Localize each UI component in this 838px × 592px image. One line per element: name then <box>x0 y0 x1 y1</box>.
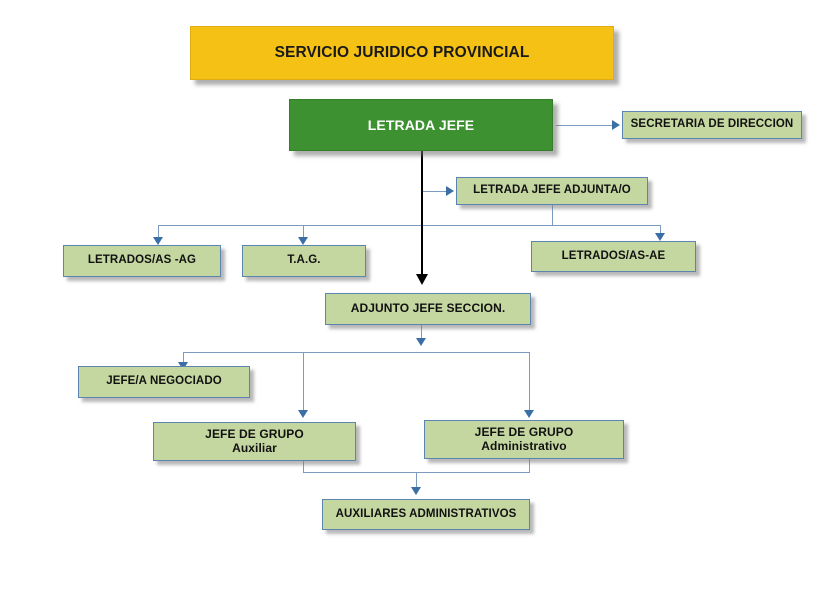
arrow-down-icon-grupo-administrativo <box>524 410 534 418</box>
connector-section-bus <box>183 352 530 353</box>
node-label: ADJUNTO JEFE SECCION. <box>351 302 506 316</box>
node-letrada-jefe[interactable]: LETRADA JEFE <box>289 99 553 151</box>
node-label: LETRADOS/AS -AG <box>88 254 196 267</box>
node-label-line2: Administrativo <box>481 440 566 454</box>
connector-administrativo-down <box>529 459 530 472</box>
node-label-line2: Auxiliar <box>232 442 277 456</box>
node-label: LETRADOS/AS-AE <box>562 250 666 263</box>
node-label: LETRADA JEFE <box>368 117 474 133</box>
node-label: JEFE/A NEGOCIADO <box>106 375 222 388</box>
node-jefe-de-grupo-administrativo[interactable]: JEFE DE GRUPO Administrativo <box>424 420 624 459</box>
arrow-right-icon-deputy <box>446 186 454 196</box>
arrow-down-icon-lawyers-ag <box>153 237 163 245</box>
node-adjunto-jefe-seccion[interactable]: ADJUNTO JEFE SECCION. <box>325 293 531 325</box>
node-jefe-a-negociado[interactable]: JEFE/A NEGOCIADO <box>78 366 250 398</box>
node-auxiliares-administrativos[interactable]: AUXILIARES ADMINISTRATIVOS <box>322 499 530 530</box>
arrow-down-icon-section-head <box>416 274 428 285</box>
node-label: LETRADA JEFE ADJUNTA/O <box>473 184 631 197</box>
node-label-line1: JEFE DE GRUPO <box>475 426 574 440</box>
node-label: SERVICIO JURIDICO PROVINCIAL <box>275 44 530 62</box>
org-chart-canvas: SERVICIO JURIDICO PROVINCIAL LETRADA JEF… <box>0 0 838 592</box>
connector-auxiliar-down <box>303 461 304 472</box>
node-label: SECRETARIA DE DIRECCION <box>631 118 794 131</box>
node-letrada-jefe-adjunta[interactable]: LETRADA JEFE ADJUNTA/O <box>456 177 648 205</box>
arrow-down-icon-auxiliares <box>411 487 421 495</box>
connector-chief-to-section-head <box>421 151 423 278</box>
connector-drop-grupo-auxiliar <box>303 352 304 412</box>
node-label-line1: JEFE DE GRUPO <box>205 428 304 442</box>
arrow-down-icon-lawyers-ae <box>655 233 665 241</box>
node-letrados-as-ae[interactable]: LETRADOS/AS-AE <box>531 241 696 272</box>
node-tag[interactable]: T.A.G. <box>242 245 366 277</box>
node-secretaria-de-direccion[interactable]: SECRETARIA DE DIRECCION <box>622 111 802 139</box>
node-letrados-as-ag[interactable]: LETRADOS/AS -AG <box>63 245 221 277</box>
arrow-down-icon-tag <box>298 237 308 245</box>
connector-drop-grupo-administrativo <box>529 352 530 412</box>
node-servicio-juridico-provincial[interactable]: SERVICIO JURIDICO PROVINCIAL <box>190 26 614 80</box>
arrow-down-icon-grupo-auxiliar <box>298 410 308 418</box>
connector-deputy-drop <box>552 205 553 225</box>
node-jefe-de-grupo-auxiliar[interactable]: JEFE DE GRUPO Auxiliar <box>153 422 356 461</box>
connector-spine-to-deputy <box>422 191 448 192</box>
node-label: AUXILIARES ADMINISTRATIVOS <box>336 508 517 521</box>
arrow-right-icon-secretary <box>612 120 620 130</box>
node-label: T.A.G. <box>287 254 320 267</box>
connector-lawyers-bus <box>158 225 661 226</box>
arrow-down-icon-section-bus <box>416 338 426 346</box>
connector-chief-to-secretary <box>556 125 614 126</box>
